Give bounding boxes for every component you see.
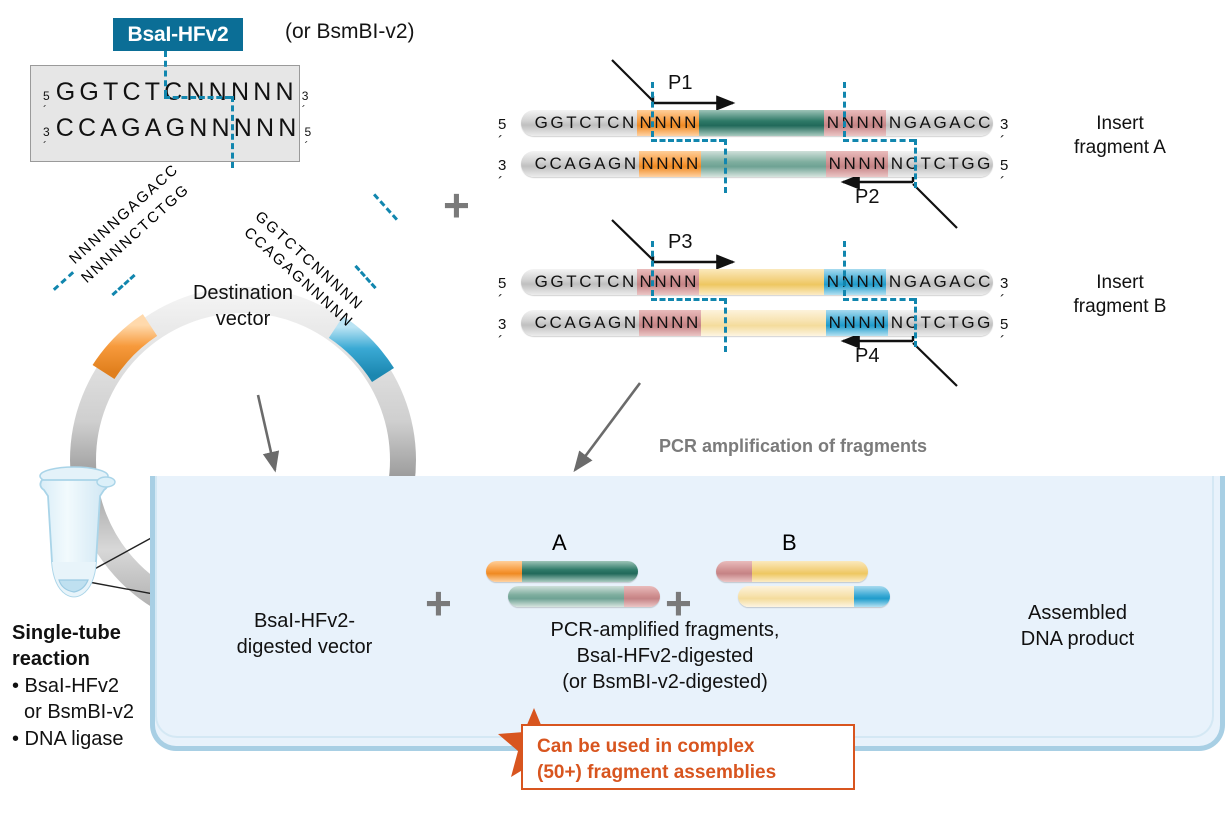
- insert-a-cut-right-top: [843, 82, 846, 137]
- primer-p1-label: P1: [668, 72, 692, 95]
- enzyme-alternative-label: (or BsmBI-v2): [285, 20, 415, 44]
- insert-b-cut-right-bottom: [914, 298, 917, 347]
- digested-vector-label: BsaI-HFv2- digested vector: [222, 608, 387, 660]
- insert-b-top-strand: GGTCTCN NNNN NNNN NGAGACC: [521, 269, 993, 295]
- insert-a-top-left-overhang: NNNN: [637, 113, 699, 133]
- insert-b-title: Insert fragment B: [1040, 271, 1200, 319]
- insert-a-bottom-left-overhang: NNNN: [639, 154, 701, 174]
- callout-line2: (50+) fragment assemblies: [537, 760, 776, 786]
- insert-a-tick-3p-bottom: 3´: [498, 157, 506, 191]
- recognition-bottom-strand: 3´ CCAGAGNNNNN 5´: [43, 114, 311, 153]
- plus-sign-vessel-1: +: [425, 580, 452, 626]
- insert-b-cut-left-top: [651, 241, 654, 296]
- vector-cut-left-outer: [53, 271, 74, 291]
- insert-b-cut-right-top: [843, 241, 846, 296]
- insert-b-top-left-bases: GGTCTCN: [532, 272, 637, 292]
- caption-title-line1: Single-tube: [12, 622, 121, 644]
- recognition-top-bases: GGTCTCNNNNN: [56, 78, 298, 107]
- insert-a-cut-right-bottom: [914, 139, 917, 188]
- insert-a-bottom-left-bases: CCAGAGN: [532, 154, 639, 174]
- insert-a-cut-right-horizontal: [843, 139, 915, 142]
- assembled-product-label: Assembled DNA product: [995, 600, 1160, 652]
- cut-mark-top-vertical: [164, 51, 167, 96]
- insert-a-bottom-strand: CCAGAGN NNNN NNNN NCTCTGG: [521, 151, 993, 177]
- single-tube-reaction-caption: Single-tube reaction • BsaI-HFv2 or BsmB…: [12, 620, 162, 752]
- insert-b-top-left-overhang: NNNN: [637, 272, 699, 292]
- tick-5prime-bottom: 5´: [305, 125, 312, 153]
- vector-cut-right-inner: [354, 265, 376, 289]
- insert-b-tick-5p-bottom: 5´: [1000, 316, 1008, 350]
- primer-p3-label: P3: [668, 231, 692, 254]
- complex-assembly-callout: Can be used in complex (50+) fragment as…: [521, 724, 855, 790]
- enzyme-badge-label: BsaI-HFv2: [128, 23, 229, 47]
- insert-a-tick-5p-bottom: 5´: [1000, 157, 1008, 191]
- insert-b-bottom-right-bases: NCTCTGG: [888, 313, 993, 333]
- insert-a-top-right-overhang: NNNN: [824, 113, 886, 133]
- fragment-b-label: B: [782, 530, 797, 556]
- vector-down-arrow: [258, 395, 275, 470]
- tick-3prime-bottom: 3´: [43, 125, 50, 153]
- fragment-b-bottom-strand: [738, 586, 890, 607]
- insert-a-tick-3p-top: 3´: [1000, 116, 1008, 150]
- cut-mark-horizontal: [164, 96, 231, 99]
- pcr-down-arrow: [575, 383, 640, 470]
- caption-bullet-enzyme: • BsaI-HFv2: [12, 673, 162, 699]
- insert-b-bottom-strand: CCAGAGN NNNN NNNN NCTCTGG: [521, 310, 993, 336]
- insert-a-top-right-bases: NGAGACC: [886, 113, 993, 133]
- insert-b-cut-right-horizontal: [843, 298, 915, 301]
- microcentrifuge-tube-icon: [22, 462, 142, 612]
- insert-b-cut-left-bottom: [724, 298, 727, 352]
- vector-cut-left-inner: [111, 274, 135, 296]
- insert-a-title: Insert fragment A: [1040, 112, 1200, 160]
- cut-mark-bottom-vertical: [231, 96, 234, 168]
- insert-b-tick-3p-top: 3´: [1000, 275, 1008, 309]
- insert-b-tick-3p-bottom: 3´: [498, 316, 506, 350]
- caption-bullet-enzyme-alt: or BsmBI-v2: [12, 699, 162, 725]
- insert-b-bottom-left-bases: CCAGAGN: [532, 313, 639, 333]
- insert-b-bottom-right-overhang: NNNN: [826, 313, 888, 333]
- pcr-amplification-label: PCR amplification of fragments: [659, 436, 927, 457]
- caption-bullet-ligase: • DNA ligase: [12, 726, 162, 752]
- fragment-a-label: A: [552, 530, 567, 556]
- insert-a-bottom-right-overhang: NNNN: [826, 154, 888, 174]
- enzyme-badge: BsaI-HFv2: [113, 18, 243, 51]
- insert-a-tick-5p-top: 5´: [498, 116, 506, 150]
- vector-cut-right-outer: [373, 193, 398, 220]
- insert-b-bottom-left-overhang: NNNN: [639, 313, 701, 333]
- insert-b-top-right-overhang: NNNN: [824, 272, 886, 292]
- insert-b-tick-5p-top: 5´: [498, 275, 506, 309]
- destination-vector-label: Destination vector: [158, 280, 328, 332]
- insert-b-top-right-bases: NGAGACC: [886, 272, 993, 292]
- insert-a-bottom-right-bases: NCTCTGG: [888, 154, 993, 174]
- insert-a-top-strand: GGTCTCN NNNN NNNN NGAGACC: [521, 110, 993, 136]
- callout-line1: Can be used in complex: [537, 734, 776, 760]
- recognition-bottom-bases: CCAGAGNNNNN: [56, 114, 301, 143]
- insert-a-cut-left-bottom: [724, 139, 727, 193]
- tick-3prime-top: 3´: [302, 89, 309, 117]
- fragment-a-bottom-strand: [508, 586, 660, 607]
- plus-sign-top: +: [443, 182, 470, 228]
- insert-a-top-left-bases: GGTCTCN: [532, 113, 637, 133]
- insert-b-cut-left-horizontal: [651, 298, 725, 301]
- pcr-fragments-caption: PCR-amplified fragments, BsaI-HFv2-diges…: [455, 617, 875, 695]
- tick-5prime-top: 5´: [43, 89, 50, 117]
- primer-p4-label: P4: [855, 345, 879, 368]
- insert-a-cut-left-top: [651, 82, 654, 137]
- fragment-b-top-strand: [716, 561, 868, 582]
- caption-title-line2: reaction: [12, 648, 90, 670]
- primer-p2-label: P2: [855, 186, 879, 209]
- fragment-a-top-strand: [486, 561, 638, 582]
- insert-a-cut-left-horizontal: [651, 139, 725, 142]
